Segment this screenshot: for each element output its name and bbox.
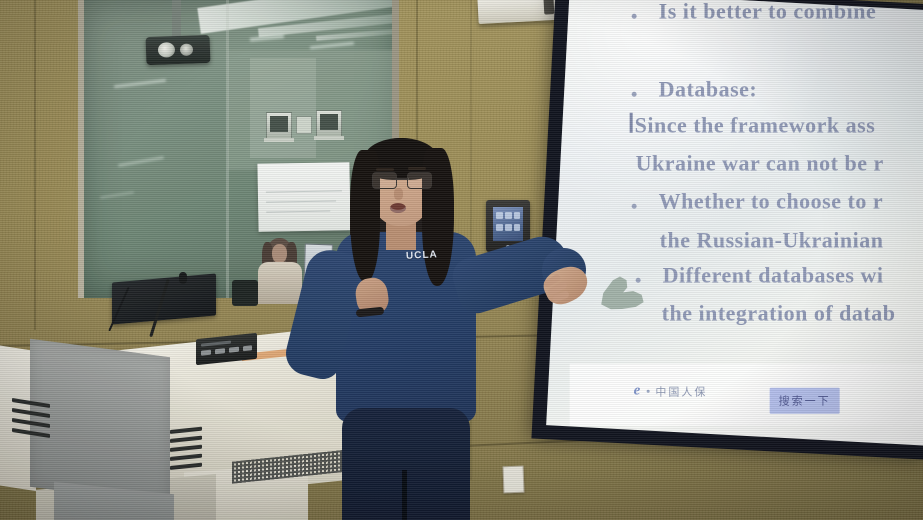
presenter-eyebrow [408, 167, 426, 170]
brand-label: 中国人保 [655, 383, 707, 399]
slide-line-text: Since the framework ass [635, 113, 876, 138]
presenter-eyebrow [376, 168, 394, 171]
glass-reflection [310, 42, 354, 50]
presenter-nose [394, 188, 403, 200]
operator-face [272, 244, 287, 263]
wall-speaker [266, 112, 292, 140]
wall-seam [34, 0, 36, 330]
browser-brand: e 中国人保 [634, 383, 708, 400]
slide-line-text: the Russian-Ukrainian [660, 228, 884, 254]
glasses-lens-left [372, 172, 397, 189]
slide-line-text: the integration of datab [662, 301, 896, 327]
glasses-icon [372, 172, 432, 187]
bullet-point-icon [636, 278, 641, 283]
glass-mullion [226, 0, 229, 298]
projector-lens [158, 42, 176, 58]
slide-line-text: Database: [659, 77, 758, 103]
glass-reflection [118, 156, 164, 167]
presenter-mouth [390, 203, 406, 213]
lecture-hall-photo: Is it better to combine Database: Since … [0, 0, 923, 520]
lectern-front-panel [30, 339, 170, 505]
sweatshirt-logo-text: UCLA [406, 249, 438, 262]
glass-reflection [250, 34, 284, 42]
bullet-point-icon [632, 92, 637, 97]
projector-mount [172, 0, 181, 40]
microphone-icon [179, 272, 187, 284]
search-button[interactable]: 搜索一下 [770, 388, 840, 414]
glass-frame-left [78, 0, 84, 298]
ceiling-fixture [477, 0, 556, 24]
separator-dot [646, 390, 649, 393]
projector-lens-secondary [180, 43, 193, 55]
slide-line-text: Different databases wi [663, 263, 884, 289]
glass-reflection [100, 191, 134, 198]
text-caret [630, 113, 633, 133]
ceiling-projector-icon [146, 35, 211, 65]
slide-browser-footer: e 中国人保 搜索一下 [570, 364, 923, 426]
bullet-point-icon [632, 204, 637, 209]
presentation-slide: Is it better to combine Database: Since … [570, 0, 923, 426]
slide-line-text: Whether to choose to r [659, 189, 883, 215]
presenter: UCLA [290, 120, 620, 520]
bullet-point-icon [632, 14, 637, 19]
glass-reflection [114, 79, 166, 88]
presenter-leg-seam [402, 470, 407, 520]
slide-line-text: Ukraine war can not be r [636, 151, 884, 177]
presenter-hair-side [422, 148, 454, 286]
browser-e-icon: e [634, 383, 641, 400]
glasses-lens-right [407, 172, 432, 189]
